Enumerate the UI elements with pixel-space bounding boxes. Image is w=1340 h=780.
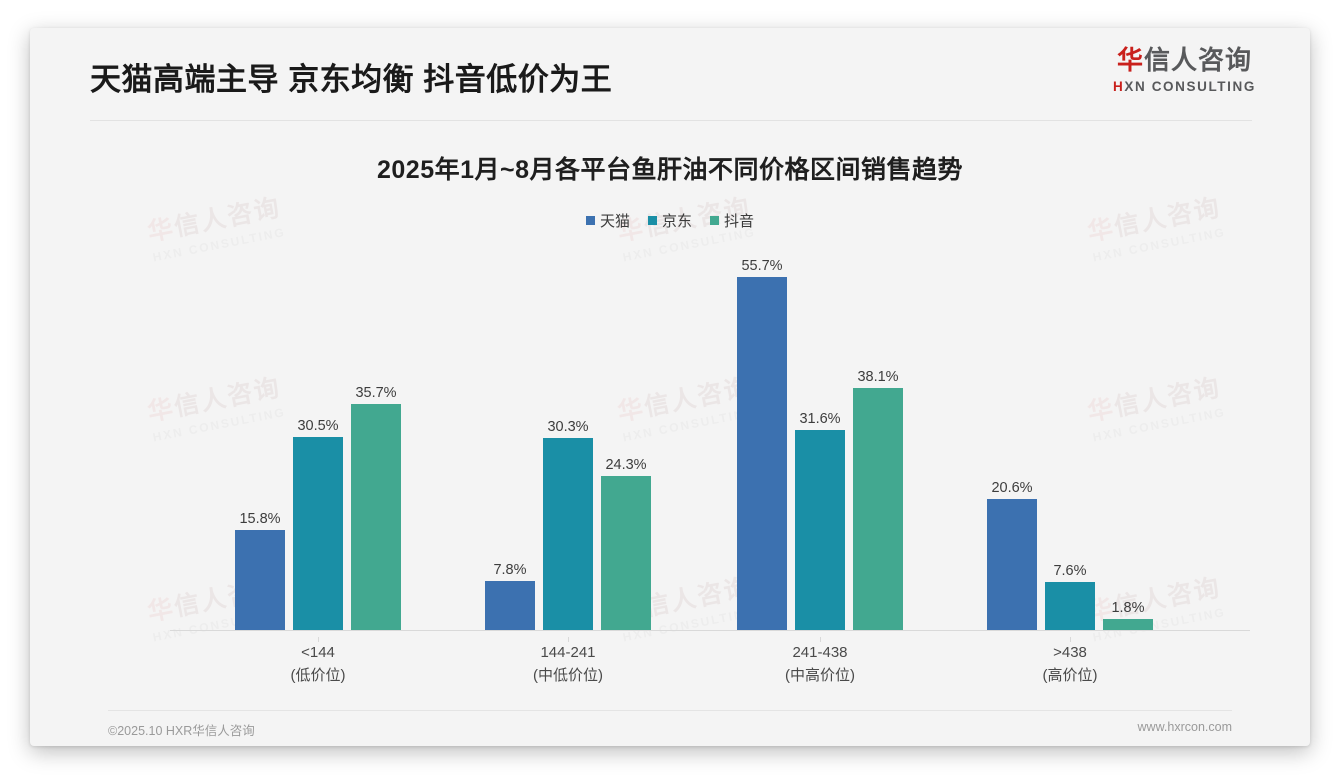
bar-抖音-144-241[interactable]: 24.3%: [601, 452, 651, 630]
x-axis-label-tier: (高价位): [970, 665, 1170, 688]
x-axis-label-144-241: 144-241(中低价位): [468, 642, 668, 687]
bar-抖音->438[interactable]: 1.8%: [1103, 595, 1153, 630]
bar-rect: [795, 430, 845, 630]
bar-rect: [351, 404, 401, 630]
bar-value-label: 30.3%: [547, 419, 588, 435]
bar-抖音-241-438[interactable]: 38.1%: [853, 364, 903, 630]
bar-value-label: 35.7%: [355, 385, 396, 401]
bar-天猫-144-241[interactable]: 7.8%: [485, 557, 535, 630]
bar-rect: [1103, 619, 1153, 630]
x-axis-label-range: <144: [301, 644, 335, 661]
footer-website: www.hxrcon.com: [1138, 720, 1232, 734]
footer-divider: [108, 710, 1232, 711]
footer-copyright: ©2025.10 HXR华信人咨询: [108, 720, 255, 739]
bar-rect: [737, 277, 787, 630]
x-axis-label-241-438: 241-438(中高价位): [720, 642, 920, 687]
x-axis-label-<144: <144(低价位): [218, 642, 418, 687]
bar-value-label: 20.6%: [991, 480, 1032, 496]
bar-天猫-241-438[interactable]: 55.7%: [737, 253, 787, 630]
bar-value-label: 1.8%: [1111, 600, 1144, 616]
bar-value-label: 38.1%: [857, 369, 898, 385]
bar-value-label: 7.8%: [493, 562, 526, 578]
bar-rect: [601, 476, 651, 630]
slide-card: 天猫高端主导 京东均衡 抖音低价为王 华信人咨询 HXN CONSULTING …: [30, 28, 1310, 746]
bar-value-label: 15.8%: [239, 511, 280, 527]
bar-value-label: 31.6%: [799, 411, 840, 427]
bar-rect: [543, 438, 593, 630]
bar-京东-<144[interactable]: 30.5%: [293, 413, 343, 630]
bar-天猫-<144[interactable]: 15.8%: [235, 506, 285, 630]
x-axis-label->438: >438(高价位): [970, 642, 1170, 687]
bar-京东->438[interactable]: 7.6%: [1045, 558, 1095, 630]
bar-rect: [293, 437, 343, 630]
bar-天猫->438[interactable]: 20.6%: [987, 475, 1037, 630]
bar-rect: [1045, 582, 1095, 630]
x-axis-label-range: 144-241: [540, 644, 595, 661]
bar-rect: [853, 388, 903, 630]
bar-value-label: 7.6%: [1053, 563, 1086, 579]
bar-抖音-<144[interactable]: 35.7%: [351, 380, 401, 630]
chart-plot-area: 15.8%30.5%35.7%<144(低价位)7.8%30.3%24.3%14…: [30, 28, 1310, 746]
x-axis-label-tier: (低价位): [218, 665, 418, 688]
x-axis-label-range: >438: [1053, 644, 1087, 661]
bar-value-label: 55.7%: [741, 258, 782, 274]
x-axis-label-range: 241-438: [792, 644, 847, 661]
bar-value-label: 30.5%: [297, 418, 338, 434]
bar-京东-144-241[interactable]: 30.3%: [543, 414, 593, 630]
x-axis-label-tier: (中低价位): [468, 665, 668, 688]
bar-京东-241-438[interactable]: 31.6%: [795, 406, 845, 630]
bar-rect: [235, 530, 285, 630]
bar-rect: [987, 499, 1037, 630]
bar-rect: [485, 581, 535, 630]
x-axis-label-tier: (中高价位): [720, 665, 920, 688]
bar-value-label: 24.3%: [605, 457, 646, 473]
x-axis-line: [170, 630, 1250, 631]
